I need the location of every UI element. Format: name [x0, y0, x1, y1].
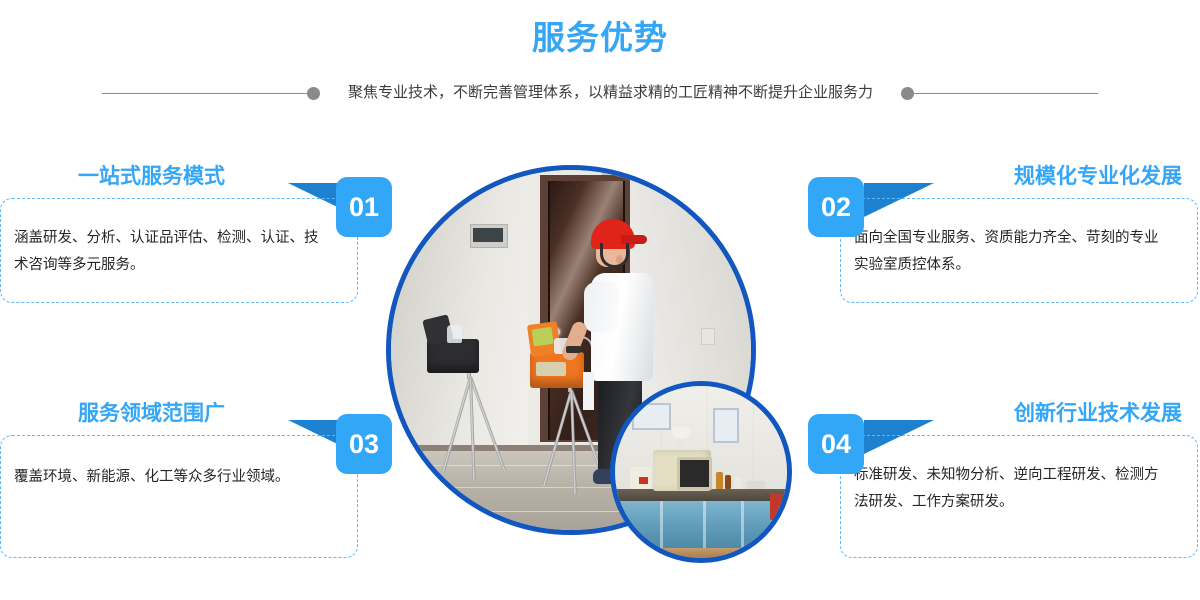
red-safety-helmet-icon	[591, 219, 635, 249]
feature-card-03-box	[0, 435, 358, 558]
technician-sleeve	[584, 282, 618, 332]
page-header: 服务优势 聚焦专业技术，不断完善管理体系，以精益求精的工匠精神不断提升企业服务力	[0, 0, 1200, 120]
lab-cabinet-seam	[660, 501, 663, 547]
lab-oven-door	[677, 457, 712, 491]
rule-line-left	[102, 93, 307, 94]
technician-arm	[560, 320, 589, 363]
page-subtitle: 聚焦专业技术，不断完善管理体系，以精益求精的工匠精神不断提升企业服务力	[320, 83, 901, 103]
subtitle-row: 聚焦专业技术，不断完善管理体系，以精益求精的工匠精神不断提升企业服务力	[0, 78, 1200, 108]
page-title: 服务优势	[0, 17, 1200, 59]
inset-photo-scene	[615, 386, 787, 558]
lab-waste-bin	[770, 493, 782, 521]
rule-dot-left-icon	[307, 87, 320, 100]
lab-bench-cabinets	[615, 501, 787, 547]
feature-card-04-heading: 创新行业技术发展	[1014, 400, 1182, 428]
feature-card-04-body: 标准研发、未知物分析、逆向工程研发、检测方法研发、工作方案研发。	[854, 462, 1172, 516]
feature-card-01-body: 涵盖研发、分析、认证品评估、检测、认证、技术咨询等多元服务。	[14, 225, 332, 279]
lab-reagent-bottle	[725, 475, 731, 489]
lab-cabinet-seam	[741, 501, 744, 547]
lab-wall-picture	[632, 403, 670, 429]
rule-line-right	[914, 93, 1098, 94]
photo-composition	[378, 155, 828, 575]
feature-card-02-body: 面向全国专业服务、资质能力齐全、苛刻的专业实验室质控体系。	[854, 225, 1172, 279]
technician-watch	[566, 346, 581, 353]
lab-controller-led	[639, 477, 648, 484]
lab-sample-jar	[734, 477, 743, 489]
feature-card-03-body: 覆盖环境、新能源、化工等众多行业领域。	[14, 464, 354, 491]
lab-wall-notice	[713, 408, 739, 443]
feature-card-02-heading: 规模化专业化发展	[1014, 163, 1182, 191]
lab-tray	[747, 481, 764, 490]
feature-card-03-heading: 服务领域范围广	[78, 400, 225, 428]
lab-bench-worktop	[615, 489, 787, 501]
helmet-chin-strap	[600, 243, 629, 268]
inset-photo-circle	[610, 381, 792, 563]
rule-dot-right-icon	[901, 87, 914, 100]
lab-reagent-bottle	[716, 472, 723, 489]
lab-floor	[615, 548, 787, 558]
technician-id-tag	[583, 372, 594, 410]
feature-card-01-heading: 一站式服务模式	[78, 163, 225, 191]
lab-cabinet-seam	[703, 501, 706, 547]
